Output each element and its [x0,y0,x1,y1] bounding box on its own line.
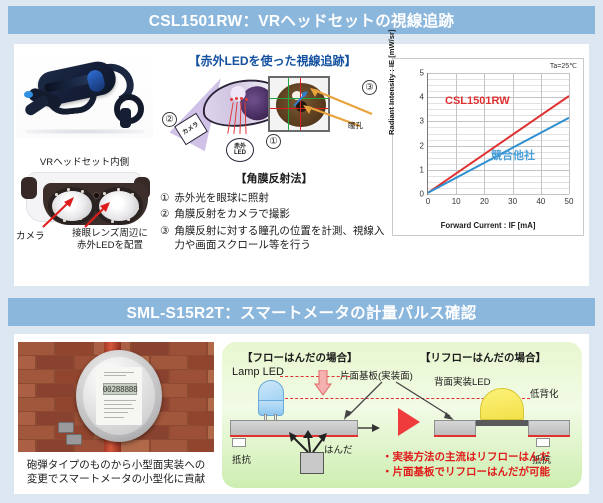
chart-y-tick: 0 [420,190,424,199]
lamp-led-body [258,400,284,416]
section-title-vr: CSL1501RW：VRヘッドセットの視線追跡 [8,6,595,34]
brick [189,440,214,452]
meter-clamp-upper [58,422,74,433]
brick [170,342,206,355]
resistor-left-icon [232,438,246,447]
chart-x-tick: 0 [426,197,430,206]
chart-y-tick: 3 [420,117,424,126]
brick [37,384,73,397]
resistor-label-left: 抵抗 [232,452,251,466]
brick [132,342,168,355]
smart-meter-caption: 砲弾タイプのものから小型面実装への 変更でスマートメータの小型化に貢献 [14,458,218,486]
radiant-intensity-chart: Ta=25℃ Radiant Intensity : IE [mW/sr] 01… [392,58,584,236]
height-reduction-arrow [314,370,330,394]
chart-series-label-competitor: 競合他社 [491,147,535,163]
chart-x-tick: 30 [508,197,517,206]
led-pointer-arrow [82,200,112,228]
vr-headset-inner-photo [16,166,153,228]
camera-pointer-arrow [40,196,76,228]
chart-y-tick: 4 [420,93,424,102]
chart-y-tick: 1 [420,165,424,174]
callout-1: ① [266,134,281,149]
brick [18,398,54,411]
reflow-solder-heading: 【リフローはんだの場合】 [420,350,546,365]
callout-2: ② [162,112,177,127]
brick [18,370,54,383]
method-item-text: 角膜反射に対する瞳孔の位置を計測、視線入力や画面スクロール等を行う [174,224,388,253]
board-pointer-arrow-right [394,380,458,424]
chart-y-axis-label: Radiant Intensity : IE [mW/sr] [387,30,396,135]
method-title: 【角膜反射法】 [160,170,388,186]
method-item: ③ 角膜反射に対する瞳孔の位置を計測、視線入力や画面スクロール等を行う [160,224,388,253]
solder-pot-icon [300,452,324,474]
brick [189,384,214,397]
resistor-right-icon [536,438,550,447]
meter-glass-dome: 00288888 [83,357,155,435]
meter-clamp-lower [66,434,82,445]
brick [18,356,35,369]
headset-side-left-icon [21,177,37,199]
brick [18,426,54,439]
brick [170,370,206,383]
chart-y-tick: 2 [420,141,424,150]
chart-plot-area: 01234501020304050 [427,73,569,195]
brick [189,356,214,369]
ir-led-chip-icon: 赤外 LED [226,138,254,162]
flow-solder-heading: 【フローはんだの場合】 [242,350,358,365]
brick [37,356,73,369]
ir-camera-icon [93,192,100,199]
chart-series-line [428,96,569,193]
meter-housing: 00288888 [76,350,162,442]
chart-x-tick: 10 [452,197,461,206]
ir-rays [230,102,256,136]
brick [189,412,214,425]
brick [151,440,187,452]
camera-callout-label: カメラ [16,228,45,242]
meter-lcd-display: 00288888 [103,383,137,395]
chart-y-tick: 5 [420,69,424,78]
brick [18,342,54,355]
method-item: ① 赤外光を眼球に照射 [160,191,388,205]
smart-meter-photo: 00288888 [18,342,214,452]
brick [18,384,35,397]
method-item: ② 角膜反射をカメラで撮影 [160,207,388,221]
chart-gridline-h [428,194,569,195]
method-item-number: ③ [160,224,169,253]
chart-series-label-main: CSL1501RW [445,95,510,107]
eye-tracking-diagram-title: 【赤外LEDを使った視線追跡】 [160,52,385,69]
vr-headset-photo [16,50,153,138]
brick [18,412,35,425]
method-item-text: 赤外光を眼球に照射 [174,191,388,205]
led-placement-callout-label: 接眼レンズ周辺に 赤外LEDを配置 [64,228,156,252]
brick [170,398,206,411]
lamp-led-label: Lamp LED [232,366,284,378]
soldering-conclusion-bullets: ・実装方法の主流はリフローはんだ ・片面基板でリフローはんだが可能 [382,450,578,479]
chart-series-layer [428,73,569,194]
board-pointer-arrow-left [342,380,386,424]
chart-x-tick: 40 [536,197,545,206]
brick [208,426,214,439]
brick [208,370,214,383]
pcb-right-b [528,420,570,436]
meter-faceplate: 00288888 [96,367,142,425]
brick [208,342,214,355]
controller-tip-icon [24,91,33,98]
chart-gridline-v [569,73,570,194]
bullet-item: ・片面基板でリフローはんだが可能 [382,465,578,480]
chart-x-tick: 50 [565,197,574,206]
photo-shadow [26,129,144,134]
method-item-number: ② [160,207,169,221]
brick [151,356,187,369]
section-title-smartmeter: SML-S15R2T：スマートメータの計量パルス確認 [8,298,595,326]
controller-stem-icon [120,108,131,128]
smd-led-dome [480,388,524,420]
pupil-label: 瞳孔 [348,120,363,131]
chart-annotation-temperature: Ta=25℃ [550,62,577,70]
brick [170,426,206,439]
solder-wave-arrows [284,430,332,454]
soldering-comparison-diagram: 【フローはんだの場合】 【リフローはんだの場合】 Lamp LED 片面基板(実… [222,342,582,488]
brick [56,342,92,355]
brick [208,398,214,411]
low-profile-label: 低背化 [530,386,559,400]
method-item-number: ① [160,191,169,205]
method-item-text: 角膜反射をカメラで撮影 [174,207,388,221]
chart-x-tick: 20 [480,197,489,206]
chart-x-axis-label: Forward Current : IF [mA] [393,221,583,230]
slide-root: CSL1501RW：VRヘッドセットの視線追跡 VRヘッドセット内側 [0,0,603,503]
brick [18,440,35,452]
eye-tracking-diagram: カメラ 赤外 LED ① ② ③ [160,68,385,164]
bullet-item: ・実装方法の主流はリフローはんだ [382,450,578,465]
corneal-reflection-method-block: 【角膜反射法】 ① 赤外光を眼球に照射 ② 角膜反射をカメラで撮影 ③ 角膜反射… [160,170,388,255]
